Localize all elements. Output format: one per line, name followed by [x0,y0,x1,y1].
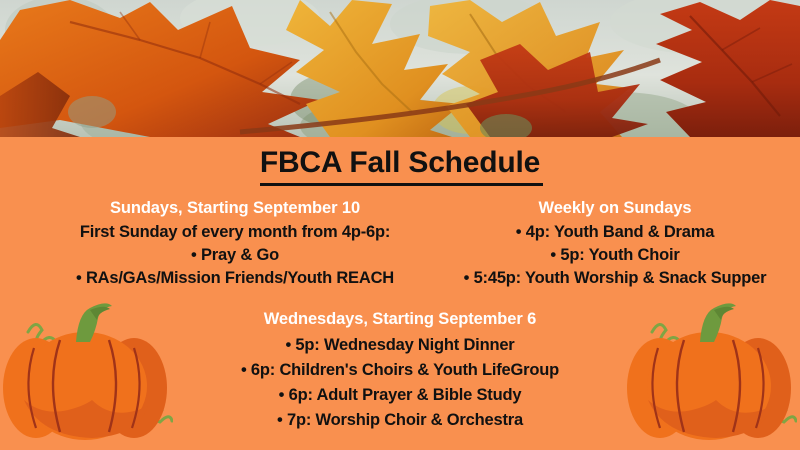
wednesdays-line-1: • 5p: Wednesday Night Dinner [100,333,700,358]
sundays-section: Sundays, Starting September 10 First Sun… [20,198,450,290]
wednesdays-heading: Wednesdays, Starting September 6 [100,309,700,330]
wednesdays-section: Wednesdays, Starting September 6 • 5p: W… [100,309,700,433]
pumpkin-icon [0,300,173,450]
weekly-sundays-line-2: • 5p: Youth Choir [430,244,800,267]
sundays-heading: Sundays, Starting September 10 [20,198,450,219]
title-underline [260,183,543,186]
sundays-line-3: • RAs/GAs/Mission Friends/Youth REACH [20,267,450,290]
pumpkin-illustration-right [622,300,797,450]
autumn-leaves-banner [0,0,800,137]
weekly-sundays-section: Weekly on Sundays • 4p: Youth Band & Dra… [430,198,800,290]
pumpkin-illustration-left [0,300,173,450]
wednesdays-line-4: • 7p: Worship Choir & Orchestra [100,408,700,433]
sundays-line-2: • Pray & Go [20,244,450,267]
sundays-line-1: First Sunday of every month from 4p-6p: [20,221,450,244]
wednesdays-line-2: • 6p: Children's Choirs & Youth LifeGrou… [100,358,700,383]
weekly-sundays-heading: Weekly on Sundays [430,198,800,219]
page-title: FBCA Fall Schedule [0,148,800,178]
wednesdays-line-3: • 6p: Adult Prayer & Bible Study [100,383,700,408]
autumn-leaves-illustration [0,0,800,137]
weekly-sundays-line-1: • 4p: Youth Band & Drama [430,221,800,244]
fall-schedule-poster: FBCA Fall Schedule Sundays, Starting Sep… [0,0,800,450]
weekly-sundays-line-3: • 5:45p: Youth Worship & Snack Supper [430,267,800,290]
pumpkin-icon [622,300,797,450]
